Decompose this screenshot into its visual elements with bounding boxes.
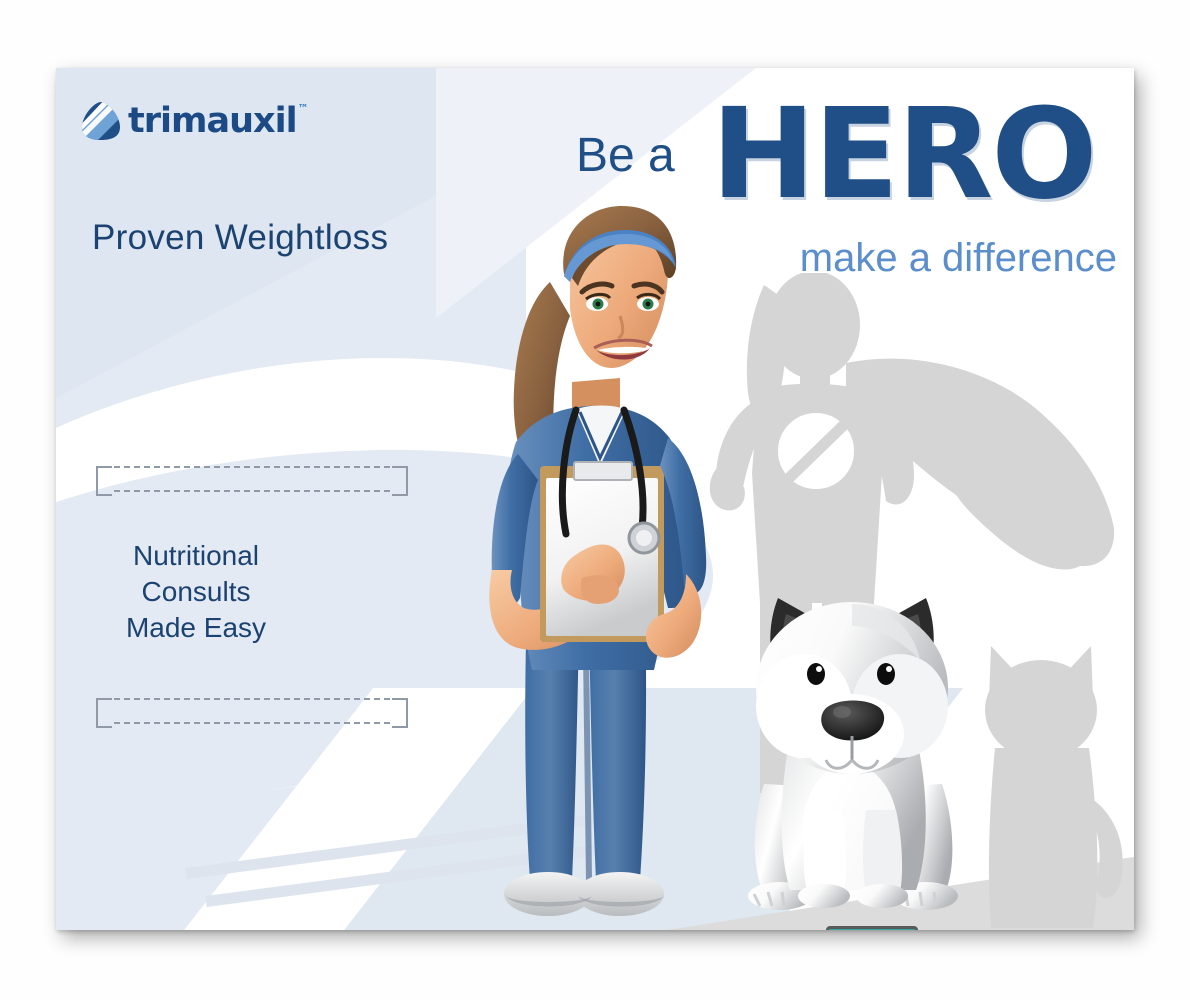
bracket-dashed-line-top: [114, 698, 390, 700]
trademark-symbol: ™: [298, 102, 308, 115]
feature-line-2: Consults: [96, 574, 296, 610]
headline-subtitle: make a difference: [800, 236, 1117, 281]
dog-illustration: [746, 584, 1046, 924]
brand-logo[interactable]: trimauxil™: [80, 100, 307, 142]
nurse-illustration: [454, 204, 744, 930]
scale-lcd-display: 80.9: [826, 926, 918, 930]
page-canvas: trimauxil™ Proven Weightloss Nutritional…: [0, 0, 1190, 1000]
dashed-bracket-bottom: [96, 698, 408, 724]
feature-line-1: Nutritional: [96, 538, 296, 574]
bracket-left-cap: [96, 466, 112, 496]
bracket-left-cap: [96, 698, 112, 728]
trimauxil-leaf-logo-icon: [80, 100, 122, 142]
bracket-dashed-line-bottom: [114, 490, 390, 492]
tagline-proven-weightloss: Proven Weightloss: [92, 218, 388, 258]
poster-card: trimauxil™ Proven Weightloss Nutritional…: [56, 68, 1134, 930]
bracket-dashed-line-top: [114, 466, 390, 468]
dashed-bracket-top: [96, 466, 408, 492]
feature-line-3: Made Easy: [96, 610, 296, 646]
headline-hero-word: HERO: [711, 92, 1096, 217]
brand-name: trimauxil™: [128, 104, 307, 139]
bracket-right-cap: [392, 466, 408, 496]
bracket-dashed-line-bottom: [114, 722, 390, 724]
bracket-right-cap: [392, 698, 408, 728]
headline-prefix: Be a: [576, 128, 675, 183]
